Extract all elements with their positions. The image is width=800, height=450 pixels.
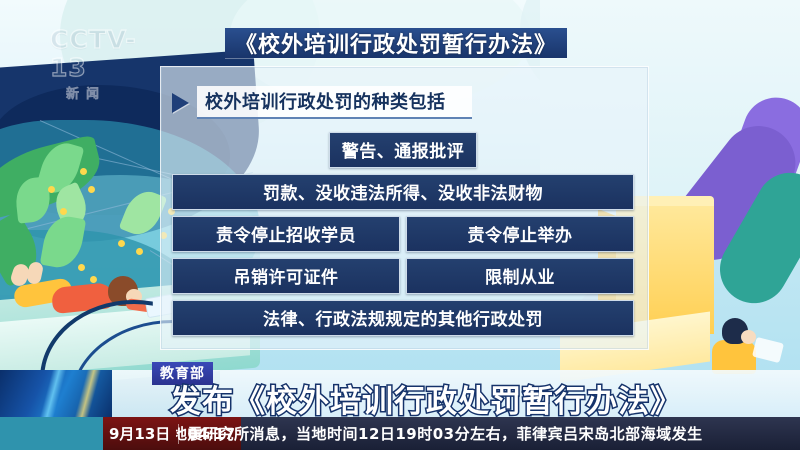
news-ticker: 9月13日 04:17 地震研究所消息，当地时间12日19时03分左右，菲律宾吕… <box>0 417 800 450</box>
dot-icon <box>80 168 87 175</box>
triangle-right-icon <box>172 93 189 113</box>
broadcast-screenshot: CCTV-13 新闻 《校外培训行政处罚暂行办法》 校外培训行政处罚的种类包括 … <box>0 0 800 450</box>
list-item: 责令停止招收学员 <box>172 216 400 252</box>
channel-logo-text: CCTV-13 <box>50 26 170 82</box>
dot-icon <box>88 186 95 193</box>
list-row: 罚款、没收违法所得、没收非法财物 <box>172 174 634 210</box>
list-row: 责令停止招收学员 责令停止举办 <box>172 216 634 252</box>
ticker-message: 地震研究所消息，当地时间12日19时03分左右，菲律宾吕宋岛北部海域发生 <box>176 423 703 444</box>
headline-text: 发布《校外培训行政处罚暂行办法》 <box>170 376 682 421</box>
list-item: 吊销许可证件 <box>172 258 400 294</box>
list-item: 责令停止举办 <box>406 216 634 252</box>
dot-icon <box>78 264 85 271</box>
list-item: 警告、通报批评 <box>329 132 478 168</box>
cctv13-channel-logo: CCTV-13 新闻 <box>50 26 170 86</box>
channel-logo-subtext: 新闻 <box>50 83 170 102</box>
list-row: 吊销许可证件 限制从业 <box>172 258 634 294</box>
graphic-title-bar: 《校外培训行政处罚暂行办法》 <box>225 28 567 58</box>
list-row: 法律、行政法规规定的其他行政处罚 <box>172 300 634 336</box>
dot-icon <box>118 240 125 247</box>
panel-heading-text: 校外培训行政处罚的种类包括 <box>205 92 446 113</box>
penalty-type-list: 警告、通报批评 罚款、没收违法所得、没收非法财物 责令停止招收学员 责令停止举办… <box>172 132 634 336</box>
panel-heading-chip: 校外培训行政处罚的种类包括 <box>197 86 472 119</box>
dot-icon <box>60 208 67 215</box>
child-illustration <box>752 337 784 363</box>
list-item: 法律、行政法规规定的其他行政处罚 <box>172 300 634 336</box>
dot-icon <box>136 248 143 255</box>
ticker-scroll-area: 地震研究所消息，当地时间12日19时03分左右，菲律宾吕宋岛北部海域发生 <box>176 417 800 450</box>
dot-icon <box>48 186 55 193</box>
ticker-date: 9月13日 <box>109 423 170 444</box>
dot-icon <box>90 276 97 283</box>
ticker-left-pad <box>0 417 103 450</box>
list-item: 罚款、没收违法所得、没收非法财物 <box>172 174 634 210</box>
list-row: 警告、通报批评 <box>172 132 634 168</box>
list-item: 限制从业 <box>406 258 634 294</box>
lower-third: 教育部 发布《校外培训行政处罚暂行办法》 <box>0 362 800 417</box>
panel-heading-row: 校外培训行政处罚的种类包括 <box>172 86 472 119</box>
graphic-title: 《校外培训行政处罚暂行办法》 <box>235 27 557 59</box>
lower-third-decoration <box>0 370 112 418</box>
child-illustration <box>741 330 756 344</box>
